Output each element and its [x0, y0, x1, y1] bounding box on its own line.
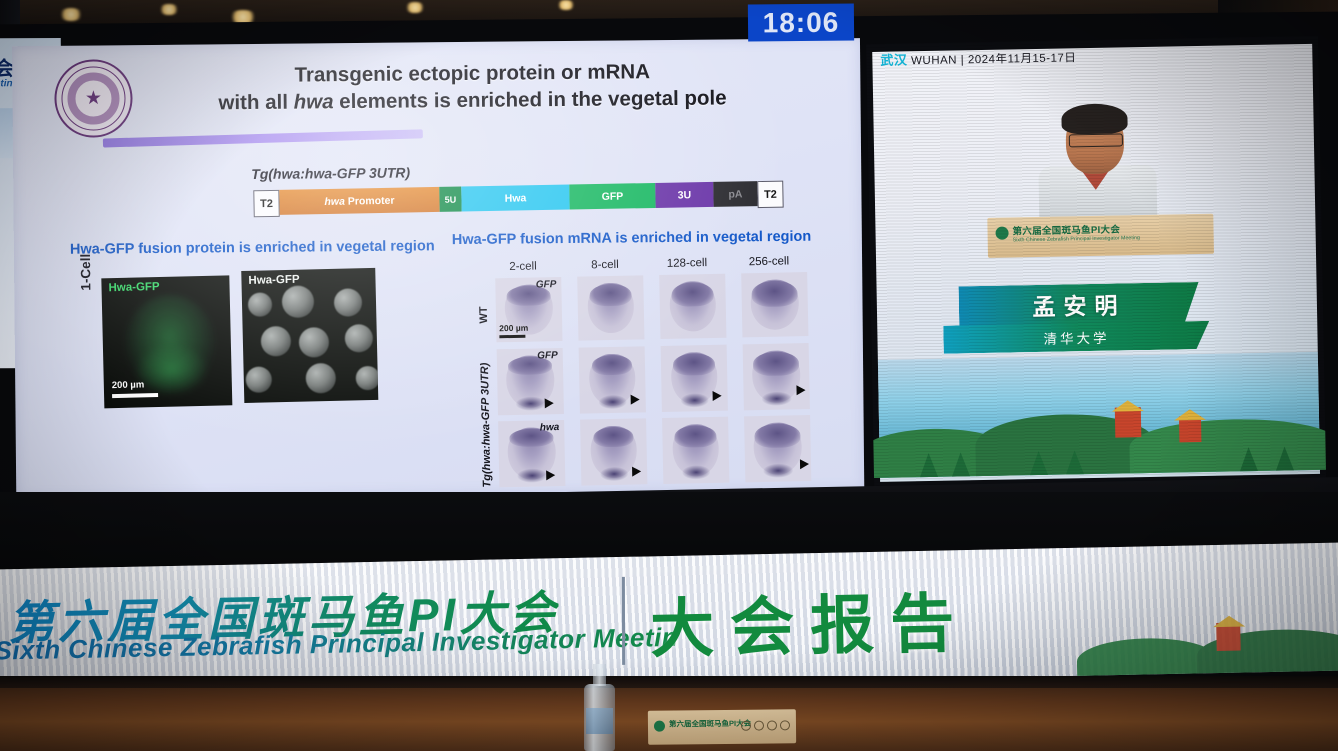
podium-sign: 第六届全国斑马鱼PI大会 Sixth Chinese Zebrafish Pri… [987, 214, 1214, 258]
grid-row-label-wt: WT [478, 306, 490, 323]
wechat-icon [754, 721, 764, 731]
column-header-128cell: 128-cell [651, 257, 723, 270]
tree [1240, 447, 1258, 471]
arrowhead-icon [713, 391, 722, 401]
gfp-signal-vegetal [133, 342, 210, 398]
embryo [248, 292, 273, 317]
arrowhead-icon [632, 466, 641, 476]
ceiling-light [158, 4, 180, 15]
qr-icon [741, 721, 751, 731]
video-feed-panel: 武汉 WUHAN | 2024年11月15-17日 第六届全国斑马鱼PI大会 S… [866, 36, 1326, 486]
right-section-heading: Hwa-GFP fusion mRNA is enriched in veget… [452, 229, 811, 248]
construct-segment-polya: pA [713, 181, 757, 207]
embryo-animal-pole [753, 351, 799, 376]
insitu-cell [661, 345, 728, 412]
grid-row-label-tg: Tg(hwa:hwa-GFP 3UTR) [479, 363, 494, 488]
embryo [245, 366, 272, 393]
in-situ-grid: 2-cell 8-cell 128-cell 256-cell WT Tg(hw… [481, 255, 826, 490]
title-line2-a: with all [218, 91, 293, 115]
construct-segment-hwa: Hwa [461, 185, 569, 212]
presentation-slide: ★ Transgenic ectopic protein or mRNA wit… [12, 38, 864, 498]
embryo-animal-pole [674, 425, 716, 448]
insitu-cell [580, 418, 647, 485]
insitu-cell [579, 346, 646, 413]
embryo [261, 326, 292, 357]
construct-segment-t2-right: T2 [757, 181, 783, 208]
signboard-icons [741, 720, 790, 731]
table-signboard: 第六届全国斑马鱼PI大会 [648, 709, 796, 745]
transgene-construct-diagram: T2 hwa Promoter 5U Hwa GFP 3U pA T2 [253, 181, 783, 216]
zebrafish-logo-icon [995, 227, 1008, 240]
embryo-animal-pole [592, 354, 632, 375]
feed-header-cn: 武汉 [880, 52, 907, 67]
construct-segment-t2-left: T2 [253, 190, 279, 217]
embryo-animal-pole [671, 282, 713, 307]
tree [920, 453, 938, 477]
brightfield-panel: Hwa-GFP [241, 268, 378, 403]
fluorescence-panel-gfp: Hwa-GFP 200 µm [101, 275, 232, 408]
insitu-cell: GFP [497, 348, 564, 415]
construct-segment-5utr: 5U [439, 186, 461, 211]
column-header-8cell: 8-cell [569, 258, 641, 271]
feed-scenery-illustration [878, 352, 1320, 478]
tree [1030, 451, 1048, 475]
zebrafish-logo-icon [654, 721, 665, 732]
clock-display: 18:06 [748, 4, 854, 42]
construct-label: Tg(hwa:hwa-GFP 3UTR) [251, 164, 410, 182]
ceiling-light [58, 8, 84, 21]
pagoda-roof [1174, 409, 1206, 421]
insitu-cell [744, 415, 811, 482]
title-line2-gene: hwa [294, 90, 334, 113]
signboard-title-cn: 第六届全国斑马鱼PI大会 [669, 718, 751, 730]
leaf-icon [780, 720, 790, 730]
embryo [299, 327, 330, 358]
embryo-vegetal-signal [516, 396, 546, 411]
hill [1129, 417, 1326, 473]
podium-title-en: Sixth Chinese Zebrafish Principal Invest… [1013, 235, 1140, 243]
embryo [356, 366, 379, 391]
globe-icon [767, 720, 777, 730]
water-bottle [582, 664, 616, 751]
pagoda-roof [1112, 400, 1144, 412]
embryo-vegetal-signal [762, 391, 792, 406]
insitu-cell: hwa [498, 420, 565, 487]
grid-scale-bar [499, 335, 525, 339]
speaker-hair [1061, 103, 1128, 134]
feed-header: 武汉 WUHAN | 2024年11月15-17日 [880, 46, 1076, 69]
banner-scenery-illustration [1065, 582, 1338, 684]
arrowhead-icon [800, 459, 809, 469]
probe-label-hwa: hwa [540, 422, 560, 433]
promoter-gene-name: hwa [324, 195, 345, 207]
embryo-animal-pole [754, 423, 800, 448]
slide-title: Transgenic ectopic protein or mRNA with … [152, 57, 792, 117]
arrowhead-icon [546, 470, 555, 480]
probe-label-gfp: GFP [537, 350, 558, 361]
tree [1066, 450, 1084, 474]
embryo [282, 285, 315, 318]
speaker-affiliation: 清华大学 [1043, 327, 1109, 348]
arrowhead-icon [631, 394, 640, 404]
banner-divider [622, 577, 625, 665]
banner-session-label: 大会报告 [649, 572, 971, 670]
panel-a-label: Hwa-GFP [108, 281, 159, 294]
insitu-cell [743, 343, 810, 410]
insitu-cell: GFP 200 µm [495, 277, 562, 342]
promoter-text: Promoter [348, 194, 395, 207]
speaker-affiliation-band: 清华大学 [943, 321, 1209, 354]
bottle-label [586, 708, 613, 734]
embryo-animal-pole [593, 426, 633, 447]
star-icon: ★ [85, 89, 102, 108]
scale-bar-text: 200 µm [112, 379, 145, 391]
clock-time: 18:06 [763, 6, 840, 39]
scale-bar [112, 393, 158, 398]
embryo-vegetal-signal [600, 467, 628, 482]
embryo [334, 288, 363, 317]
embryo-vegetal-signal [681, 393, 709, 408]
insitu-cell [662, 417, 729, 484]
speaker-name: 孟安明 [1032, 286, 1126, 322]
pagoda-body [1115, 407, 1142, 437]
insitu-cell [659, 274, 726, 339]
arrowhead-icon [545, 398, 554, 408]
tsinghua-seal-icon: ★ [54, 59, 133, 138]
tree [1276, 446, 1294, 470]
arrowhead-icon [796, 385, 805, 395]
left-section-heading: Hwa-GFP fusion protein is enriched in ve… [70, 238, 435, 258]
pagoda-roof [1213, 615, 1245, 627]
embryo-vegetal-signal [599, 395, 627, 410]
title-line2-b: elements is enriched in the vegetal pole [333, 86, 726, 113]
embryo [305, 363, 336, 394]
column-header-2cell: 2-cell [487, 260, 559, 273]
bottle-neck [593, 664, 606, 686]
embryo [345, 324, 374, 353]
insitu-cell [741, 272, 808, 337]
embryo-animal-pole [589, 283, 631, 306]
embryo-animal-pole [751, 280, 798, 307]
grid-scale-text: 200 µm [499, 323, 528, 334]
stage-banner: 第六届全国斑马鱼PI大会 Sixth Chinese Zebrafish Pri… [0, 542, 1338, 697]
embryo-animal-pole [673, 353, 715, 376]
embryo-vegetal-signal [517, 468, 547, 483]
construct-segment-promoter: hwa Promoter [279, 187, 439, 215]
feed-header-en: WUHAN | 2024年11月15-17日 [911, 52, 1076, 67]
led-screen: 大会 Meeting 分会 ) ★ Transgenic ectopic pro… [0, 12, 1338, 495]
ceiling-light [556, 0, 576, 10]
panel-b-label: Hwa-GFP [248, 274, 299, 287]
tree [952, 452, 970, 476]
column-header-256cell: 256-cell [733, 255, 805, 268]
speaker-name-band: 孟安明 [959, 282, 1200, 326]
embryo-vegetal-signal [763, 463, 793, 478]
slide-title-line2: with all hwa elements is enriched in the… [152, 84, 792, 117]
left-row-label-1cell: 1-Cell [78, 254, 93, 291]
construct-segment-3utr: 3U [655, 182, 713, 208]
table-edge [0, 676, 1338, 688]
insitu-cell [577, 275, 644, 340]
ceiling-light [404, 2, 426, 13]
construct-segment-gfp: GFP [569, 183, 655, 210]
accent-bar [103, 129, 423, 147]
probe-label-gfp: GFP [536, 279, 557, 290]
speaker-glasses [1069, 133, 1123, 147]
conference-hall-photo: 大会 Meeting 分会 ) ★ Transgenic ectopic pro… [0, 0, 1338, 751]
embryo-vegetal-signal [682, 465, 710, 480]
